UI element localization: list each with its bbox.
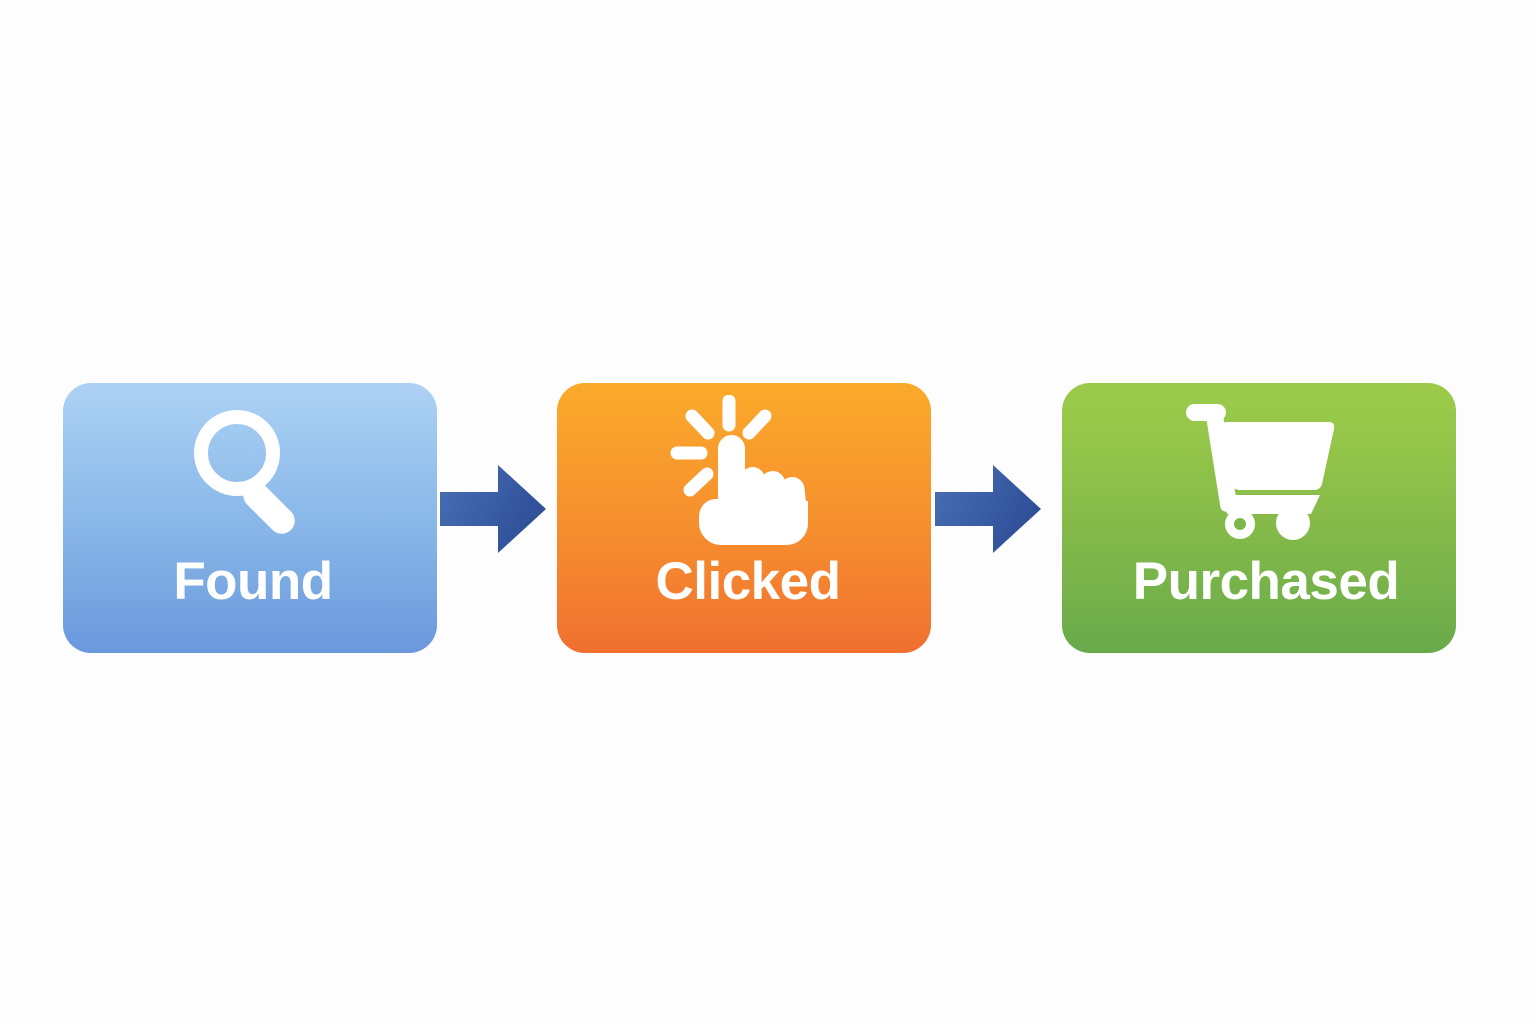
pointing-hand-click-icon bbox=[557, 383, 931, 553]
magnifying-glass-icon bbox=[63, 383, 437, 553]
funnel-step-label: Clicked bbox=[557, 555, 931, 608]
funnel-step-clicked[interactable]: Clicked bbox=[557, 383, 931, 653]
right-arrow-icon bbox=[440, 465, 546, 553]
funnel-diagram-canvas: Found bbox=[0, 0, 1536, 1024]
right-arrow-icon bbox=[935, 465, 1041, 553]
funnel-step-label: Purchased bbox=[1062, 555, 1456, 608]
funnel-step-label: Found bbox=[63, 555, 437, 608]
shopping-cart-icon bbox=[1062, 383, 1456, 553]
funnel-step-found[interactable]: Found bbox=[63, 383, 437, 653]
funnel-step-purchased[interactable]: Purchased bbox=[1062, 383, 1456, 653]
funnel-steps-row: Found bbox=[0, 383, 1536, 653]
